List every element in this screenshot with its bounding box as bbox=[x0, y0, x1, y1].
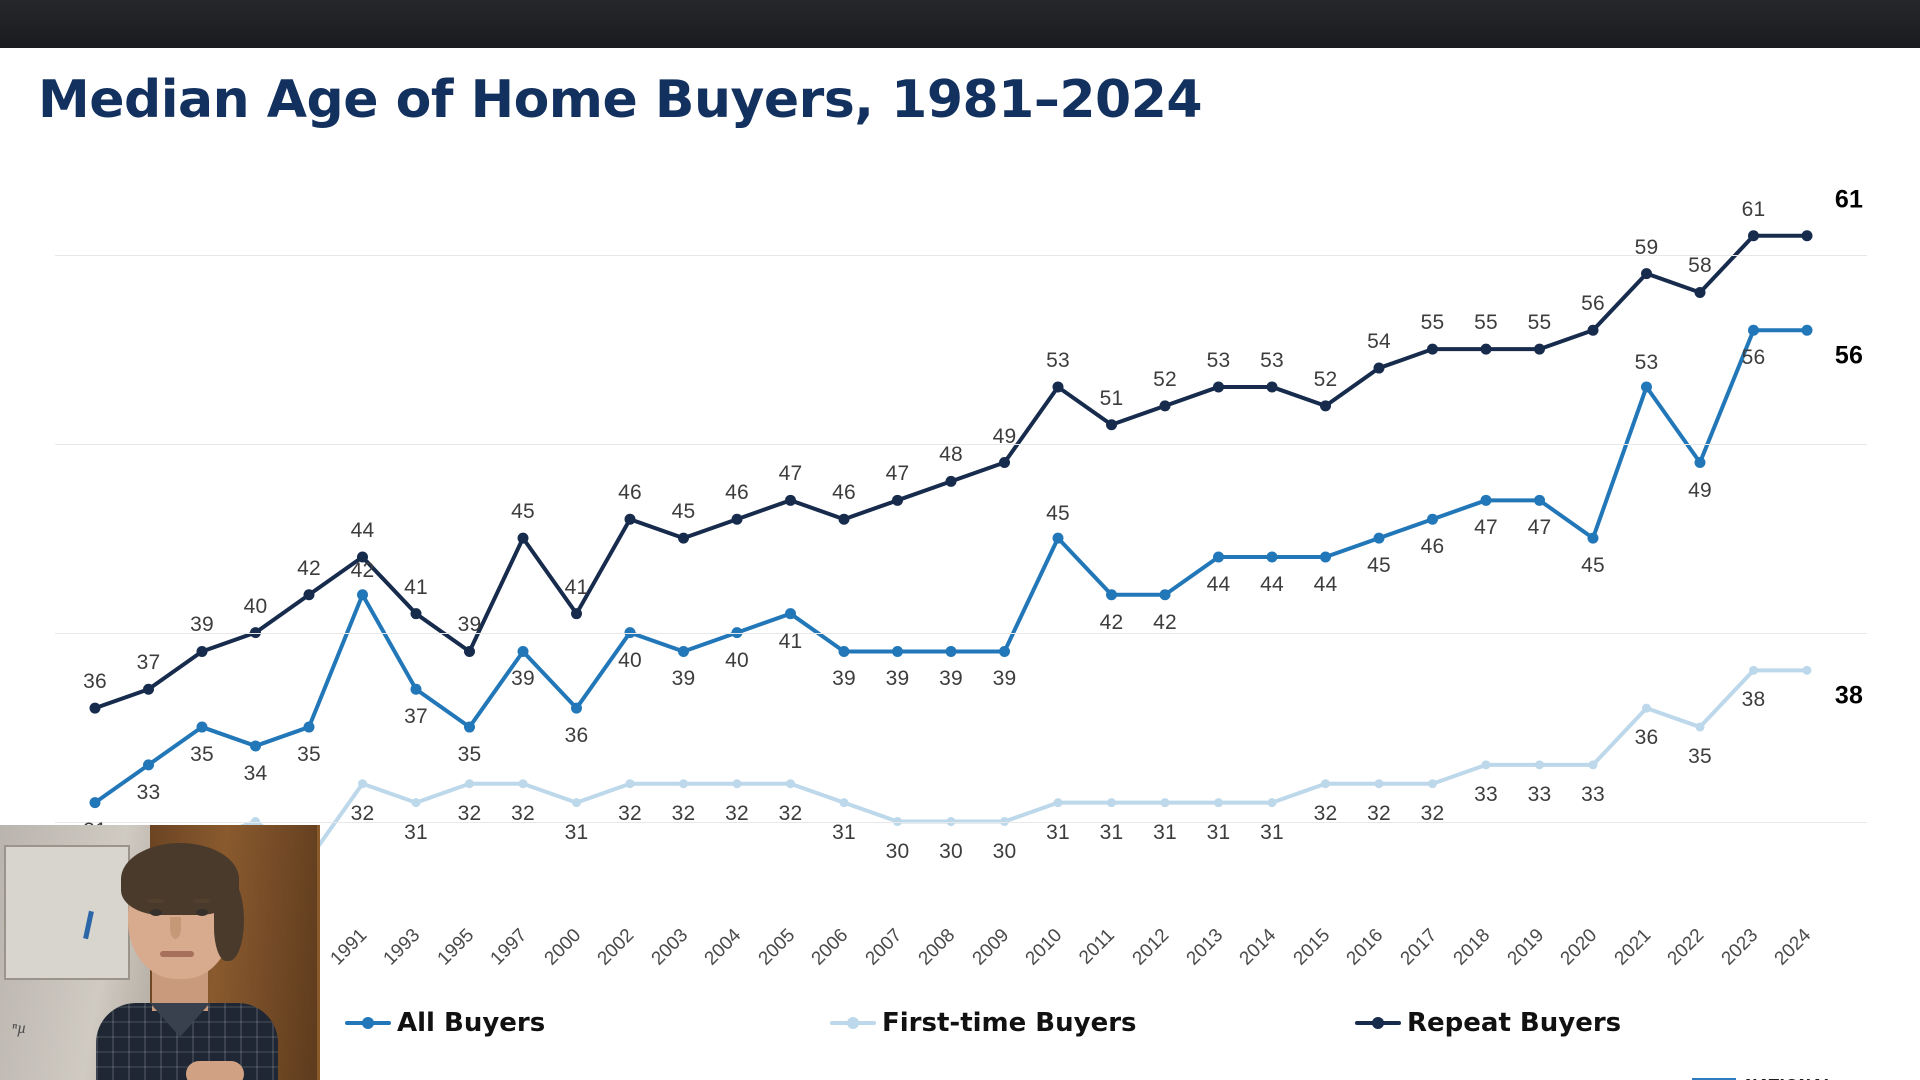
chart-point-label: 31 bbox=[404, 821, 428, 845]
chart-point-label: 41 bbox=[565, 576, 589, 600]
chart-point-label: 45 bbox=[672, 500, 696, 524]
chart-data-point bbox=[304, 589, 315, 600]
chart-point-label: 52 bbox=[1153, 368, 1177, 392]
chart-point-label: 39 bbox=[672, 667, 696, 691]
chart-point-label: 61 bbox=[1742, 198, 1766, 222]
chart-data-point bbox=[1748, 230, 1759, 241]
x-axis-tick: 2010 bbox=[1022, 925, 1067, 970]
chart-point-label: 53 bbox=[1260, 349, 1284, 373]
chart-point-label: 35 bbox=[458, 743, 482, 767]
chart-point-label: 31 bbox=[1153, 821, 1177, 845]
line-chart-plot-area: 3133353435423735393640394041393939394542… bbox=[55, 198, 1867, 916]
chart-point-label: 47 bbox=[1474, 516, 1498, 540]
x-axis-tick: 2000 bbox=[540, 925, 585, 970]
webcam-person-hand bbox=[186, 1061, 244, 1080]
x-axis-tick: 2023 bbox=[1717, 925, 1762, 970]
chart-point-label: 39 bbox=[511, 667, 535, 691]
x-axis-tick: 2002 bbox=[594, 925, 639, 970]
chart-gridline bbox=[55, 822, 1867, 823]
chart-data-point bbox=[1802, 230, 1813, 241]
chart-point-label: 42 bbox=[351, 559, 375, 583]
chart-data-point bbox=[1428, 779, 1437, 788]
chart-data-point bbox=[1481, 495, 1492, 506]
presenter-webcam-overlay[interactable]: ⁿµ bbox=[0, 825, 320, 1080]
chart-point-label: 32 bbox=[1367, 802, 1391, 826]
chart-point-label: 39 bbox=[886, 667, 910, 691]
chart-point-label: 54 bbox=[1367, 330, 1391, 354]
chart-data-point bbox=[1374, 363, 1385, 374]
chart-data-point bbox=[839, 514, 850, 525]
chart-data-point bbox=[464, 722, 475, 733]
chart-data-point bbox=[1534, 344, 1545, 355]
chart-point-label: 45 bbox=[1581, 554, 1605, 578]
chart-point-label: 47 bbox=[1528, 516, 1552, 540]
chart-data-point bbox=[892, 646, 903, 657]
chart-point-label: 48 bbox=[939, 443, 963, 467]
x-axis-tick: 2017 bbox=[1396, 925, 1441, 970]
legend-swatch-icon bbox=[830, 1016, 876, 1030]
chart-data-point bbox=[1053, 381, 1064, 392]
x-axis-tick: 2018 bbox=[1450, 925, 1495, 970]
webcam-person-brow-right bbox=[193, 899, 210, 903]
chart-point-label: 56 bbox=[1581, 292, 1605, 316]
chart-data-point bbox=[1481, 344, 1492, 355]
chart-data-point bbox=[1642, 704, 1651, 713]
x-axis-tick: 2003 bbox=[647, 925, 692, 970]
chart-point-label: 36 bbox=[83, 670, 107, 694]
webcam-person-nose bbox=[170, 917, 181, 939]
chart-point-label: 32 bbox=[779, 802, 803, 826]
chart-point-label: 44 bbox=[1207, 573, 1231, 597]
chart-data-point bbox=[411, 608, 422, 619]
chart-data-point bbox=[1106, 419, 1117, 430]
chart-data-point bbox=[465, 779, 474, 788]
chart-point-label: 44 bbox=[1260, 573, 1284, 597]
chart-data-point bbox=[1695, 287, 1706, 298]
legend-label: All Buyers bbox=[397, 1008, 545, 1038]
x-axis-tick: 1993 bbox=[380, 925, 425, 970]
webcam-person-hair-side bbox=[214, 879, 244, 961]
chart-data-point bbox=[411, 684, 422, 695]
chart-data-point bbox=[1054, 798, 1063, 807]
top-bar-background bbox=[0, 0, 1920, 48]
chart-point-label: 42 bbox=[1100, 611, 1124, 635]
chart-data-point bbox=[626, 779, 635, 788]
chart-data-point bbox=[1374, 533, 1385, 544]
chart-data-point bbox=[1267, 552, 1278, 563]
chart-end-label: 56 bbox=[1835, 342, 1863, 371]
chart-point-label: 40 bbox=[244, 595, 268, 619]
chart-point-label: 38 bbox=[1742, 688, 1766, 712]
chart-data-point bbox=[1213, 552, 1224, 563]
chart-data-point bbox=[1268, 798, 1277, 807]
chart-data-point bbox=[357, 589, 368, 600]
chart-point-label: 47 bbox=[779, 462, 803, 486]
chart-point-label: 35 bbox=[297, 743, 321, 767]
chart-data-point bbox=[1160, 400, 1171, 411]
chart-data-point bbox=[1107, 798, 1116, 807]
chart-data-point bbox=[1588, 325, 1599, 336]
chart-data-point bbox=[1641, 381, 1652, 392]
webcam-person-brow-left bbox=[147, 899, 164, 903]
chart-point-label: 47 bbox=[886, 462, 910, 486]
chart-data-point bbox=[839, 646, 850, 657]
chart-point-label: 32 bbox=[351, 802, 375, 826]
chart-point-label: 39 bbox=[458, 613, 482, 637]
chart-point-label: 31 bbox=[565, 821, 589, 845]
chart-series-line bbox=[95, 670, 1807, 859]
chart-data-point bbox=[250, 740, 261, 751]
chart-point-label: 32 bbox=[1314, 802, 1338, 826]
webcam-person-eye-left bbox=[150, 909, 162, 916]
chart-data-point bbox=[1321, 779, 1330, 788]
x-axis-tick: 2020 bbox=[1557, 925, 1602, 970]
chart-point-label: 40 bbox=[618, 649, 642, 673]
chart-data-point bbox=[1106, 589, 1117, 600]
legend-item-first-time-buyers[interactable]: First-time Buyers bbox=[830, 1008, 1137, 1038]
legend-swatch-icon bbox=[345, 1016, 391, 1030]
chart-data-point bbox=[1320, 552, 1331, 563]
chart-point-label: 32 bbox=[511, 802, 535, 826]
chart-point-label: 35 bbox=[1688, 745, 1712, 769]
chart-data-point bbox=[1802, 325, 1813, 336]
chart-data-point bbox=[1214, 798, 1223, 807]
chart-data-point bbox=[892, 495, 903, 506]
chart-point-label: 36 bbox=[1635, 726, 1659, 750]
chart-point-label: 37 bbox=[404, 705, 428, 729]
chart-point-label: 33 bbox=[137, 781, 161, 805]
x-axis-tick: 2007 bbox=[861, 925, 906, 970]
chart-data-point bbox=[90, 797, 101, 808]
chart-point-label: 31 bbox=[1046, 821, 1070, 845]
chart-point-label: 58 bbox=[1688, 254, 1712, 278]
chart-data-point bbox=[464, 646, 475, 657]
chart-data-point bbox=[1161, 798, 1170, 807]
legend-label: Repeat Buyers bbox=[1407, 1008, 1621, 1038]
chart-point-label: 39 bbox=[993, 667, 1017, 691]
chart-data-point bbox=[1534, 495, 1545, 506]
chart-point-label: 45 bbox=[511, 500, 535, 524]
chart-data-point bbox=[90, 703, 101, 714]
chart-data-point bbox=[785, 495, 796, 506]
chart-data-point bbox=[519, 779, 528, 788]
chart-data-point bbox=[785, 608, 796, 619]
chart-data-point bbox=[1213, 381, 1224, 392]
x-axis-tick: 2009 bbox=[968, 925, 1013, 970]
chart-data-point bbox=[1588, 533, 1599, 544]
chart-point-label: 55 bbox=[1474, 311, 1498, 335]
chart-data-point bbox=[143, 684, 154, 695]
chart-point-label: 42 bbox=[297, 557, 321, 581]
chart-point-label: 55 bbox=[1421, 311, 1445, 335]
chart-point-label: 44 bbox=[1314, 573, 1338, 597]
chart-point-label: 53 bbox=[1635, 351, 1659, 375]
x-axis-tick: 2024 bbox=[1771, 925, 1816, 970]
chart-data-point bbox=[999, 646, 1010, 657]
chart-data-point bbox=[786, 779, 795, 788]
chart-data-point bbox=[678, 646, 689, 657]
chart-point-label: 39 bbox=[832, 667, 856, 691]
chart-data-point bbox=[1696, 723, 1705, 732]
chart-point-label: 51 bbox=[1100, 387, 1124, 411]
chart-point-label: 39 bbox=[190, 613, 214, 637]
chart-data-point bbox=[1375, 779, 1384, 788]
chart-data-point bbox=[1748, 325, 1759, 336]
chart-data-point bbox=[412, 798, 421, 807]
page-title: Median Age of Home Buyers, 1981–2024 bbox=[38, 70, 1202, 130]
chart-point-label: 40 bbox=[725, 649, 749, 673]
x-axis-tick: 2012 bbox=[1129, 925, 1174, 970]
chart-point-label: 30 bbox=[939, 840, 963, 864]
chart-point-label: 32 bbox=[458, 802, 482, 826]
chart-data-point bbox=[1053, 533, 1064, 544]
chart-point-label: 30 bbox=[886, 840, 910, 864]
chart-point-label: 33 bbox=[1528, 783, 1552, 807]
x-axis-tick: 2015 bbox=[1289, 925, 1334, 970]
x-axis-tick: 2013 bbox=[1182, 925, 1227, 970]
chart-point-label: 46 bbox=[618, 481, 642, 505]
chart-data-point bbox=[358, 779, 367, 788]
legend-item-repeat-buyers[interactable]: Repeat Buyers bbox=[1355, 1008, 1621, 1038]
chart-data-point bbox=[1803, 666, 1812, 675]
chart-data-point bbox=[197, 646, 208, 657]
x-axis-tick: 2021 bbox=[1610, 925, 1655, 970]
legend-item-all-buyers[interactable]: All Buyers bbox=[345, 1008, 545, 1038]
chart-data-point bbox=[1749, 666, 1758, 675]
chart-data-point bbox=[1695, 457, 1706, 468]
chart-point-label: 32 bbox=[618, 802, 642, 826]
legend-label: First-time Buyers bbox=[882, 1008, 1137, 1038]
x-axis-tick: 2022 bbox=[1664, 925, 1709, 970]
chart-end-label: 61 bbox=[1835, 185, 1863, 214]
chart-point-label: 45 bbox=[1046, 502, 1070, 526]
legend-swatch-icon bbox=[1355, 1016, 1401, 1030]
chart-data-point bbox=[1160, 589, 1171, 600]
chart-point-label: 39 bbox=[939, 667, 963, 691]
chart-point-label: 32 bbox=[725, 802, 749, 826]
webcam-whiteboard-scribble: ⁿµ bbox=[12, 1020, 26, 1038]
chart-point-label: 46 bbox=[1421, 535, 1445, 559]
webcam-person-eye-right bbox=[196, 909, 208, 916]
chart-data-point bbox=[571, 703, 582, 714]
chart-point-label: 46 bbox=[725, 481, 749, 505]
chart-end-label: 38 bbox=[1835, 682, 1863, 711]
chart-data-point bbox=[679, 779, 688, 788]
chart-point-label: 45 bbox=[1367, 554, 1391, 578]
chart-point-label: 52 bbox=[1314, 368, 1338, 392]
chart-point-label: 30 bbox=[993, 840, 1017, 864]
chart-point-label: 32 bbox=[1421, 802, 1445, 826]
chart-data-point bbox=[946, 646, 957, 657]
chart-data-point bbox=[1589, 760, 1598, 769]
chart-point-label: 41 bbox=[779, 630, 803, 654]
x-axis-tick: 2006 bbox=[808, 925, 853, 970]
chart-data-point bbox=[625, 514, 636, 525]
x-axis-tick: 2014 bbox=[1236, 925, 1281, 970]
chart-point-label: 34 bbox=[244, 762, 268, 786]
chart-point-label: 31 bbox=[1100, 821, 1124, 845]
screen: Median Age of Home Buyers, 1981–2024 313… bbox=[0, 0, 1920, 1080]
chart-data-point bbox=[1535, 760, 1544, 769]
chart-gridline bbox=[55, 255, 1867, 256]
chart-data-point bbox=[1641, 268, 1652, 279]
x-axis-tick: 2005 bbox=[754, 925, 799, 970]
chart-data-point bbox=[571, 608, 582, 619]
chart-point-label: 32 bbox=[672, 802, 696, 826]
chart-data-point bbox=[518, 533, 529, 544]
chart-point-label: 33 bbox=[1474, 783, 1498, 807]
chart-point-label: 37 bbox=[137, 651, 161, 675]
chart-point-label: 46 bbox=[832, 481, 856, 505]
chart-data-point bbox=[143, 759, 154, 770]
x-axis-tick: 2016 bbox=[1343, 925, 1388, 970]
x-axis-tick: 2004 bbox=[701, 925, 746, 970]
chart-point-label: 49 bbox=[1688, 479, 1712, 503]
chart-data-point bbox=[1267, 381, 1278, 392]
chart-data-point bbox=[1427, 344, 1438, 355]
chart-series-line bbox=[95, 236, 1807, 708]
chart-point-label: 31 bbox=[1207, 821, 1231, 845]
x-axis-tick: 1991 bbox=[326, 925, 371, 970]
chart-point-label: 53 bbox=[1207, 349, 1231, 373]
x-axis-tick: 2019 bbox=[1503, 925, 1548, 970]
chart-point-label: 36 bbox=[565, 724, 589, 748]
chart-data-point bbox=[999, 457, 1010, 468]
chart-data-point bbox=[1482, 760, 1491, 769]
chart-point-label: 55 bbox=[1528, 311, 1552, 335]
screen-share-top-bar bbox=[0, 0, 1920, 48]
chart-point-label: 44 bbox=[351, 519, 375, 543]
chart-data-point bbox=[733, 779, 742, 788]
chart-point-label: 31 bbox=[832, 821, 856, 845]
chart-data-point bbox=[304, 722, 315, 733]
chart-point-label: 49 bbox=[993, 425, 1017, 449]
webcam-person-mouth bbox=[160, 951, 194, 957]
x-axis-tick-labels: 1981198319851987198919911993199519972000… bbox=[55, 916, 1867, 1006]
chart-point-label: 59 bbox=[1635, 236, 1659, 260]
chart-gridline bbox=[55, 633, 1867, 634]
webcam-whiteboard bbox=[4, 845, 130, 980]
chart-data-point bbox=[572, 798, 581, 807]
chart-data-point bbox=[518, 646, 529, 657]
chart-data-point bbox=[1320, 400, 1331, 411]
x-axis-tick: 1997 bbox=[487, 925, 532, 970]
x-axis-tick: 1995 bbox=[433, 925, 478, 970]
chart-point-label: 42 bbox=[1153, 611, 1177, 635]
x-axis-tick: 2011 bbox=[1075, 925, 1119, 969]
chart-data-point bbox=[678, 533, 689, 544]
chart-data-point bbox=[840, 798, 849, 807]
chart-point-label: 53 bbox=[1046, 349, 1070, 373]
chart-point-label: 56 bbox=[1742, 346, 1766, 370]
chart-data-point bbox=[197, 722, 208, 733]
chart-point-label: 35 bbox=[190, 743, 214, 767]
chart-point-label: 41 bbox=[404, 576, 428, 600]
chart-point-label: 31 bbox=[1260, 821, 1284, 845]
chart-data-point bbox=[732, 514, 743, 525]
chart-data-point bbox=[1427, 514, 1438, 525]
chart-point-label: 33 bbox=[1581, 783, 1605, 807]
chart-data-point bbox=[946, 476, 957, 487]
x-axis-tick: 2008 bbox=[915, 925, 960, 970]
